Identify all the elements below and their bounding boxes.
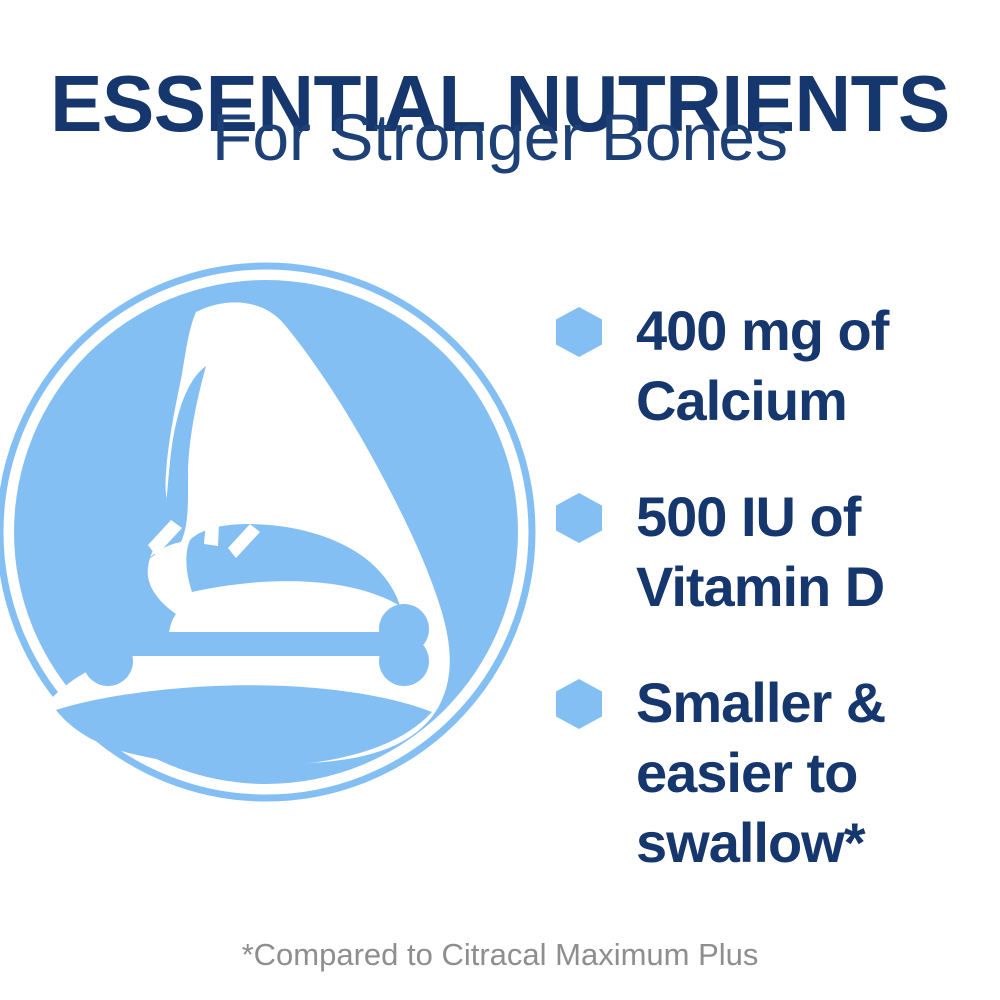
benefit-line: 500 IU of [636, 482, 884, 552]
benefit-line: Vitamin D [636, 552, 884, 622]
list-item: Smaller & easier to swallow* [556, 668, 1000, 878]
benefit-line: 400 mg of [636, 296, 888, 366]
benefit-line: Smaller & [636, 668, 885, 738]
promo-infographic: ESSENTIAL NUTRIENTS For Stronger Bones [0, 0, 1000, 1000]
hexagon-bullet-icon [556, 307, 602, 357]
benefit-line: Calcium [636, 366, 888, 436]
benefits-list: 400 mg of Calcium 500 IU of Vitamin D Sm… [556, 296, 1000, 878]
page-subtitle: For Stronger Bones [0, 100, 1000, 174]
footnote-disclaimer: *Compared to Citracal Maximum Plus [0, 936, 1000, 974]
list-item: 500 IU of Vitamin D [556, 482, 1000, 622]
benefit-text: 500 IU of Vitamin D [636, 482, 884, 622]
hexagon-bullet-icon [556, 493, 602, 543]
list-item: 400 mg of Calcium [556, 296, 1000, 436]
benefit-line: swallow* [636, 808, 885, 878]
benefit-line: easier to [636, 738, 885, 808]
benefit-text: 400 mg of Calcium [636, 296, 888, 436]
hexagon-bullet-icon [556, 679, 602, 729]
flexed-arm-with-bone-circle-icon [0, 262, 536, 802]
benefit-text: Smaller & easier to swallow* [636, 668, 885, 878]
